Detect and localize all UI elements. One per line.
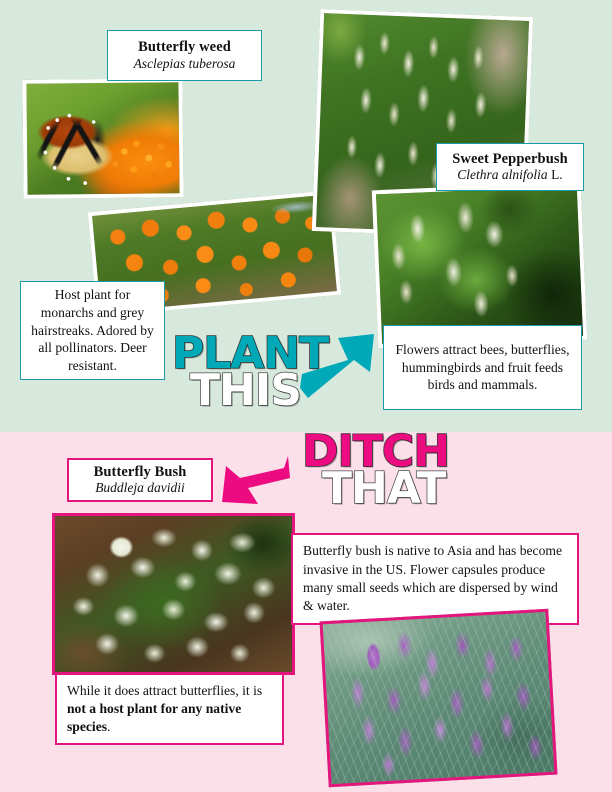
caption-butterfly-bush: Butterfly Bush Buddleja davidii: [67, 458, 213, 502]
infographic-canvas: Butterfly weed Asclepias tuberosa Sweet …: [0, 0, 612, 792]
fact-host-plant-lead: While it does attract butterflies, it is: [67, 683, 262, 698]
photo-sweet-pepperbush-closeup: [372, 182, 587, 349]
fact-host-plant-emphasis: not a host plant for any native species: [67, 701, 241, 734]
butterfly-weed-common-name: Butterfly weed: [138, 39, 231, 56]
fact-sweet-pepperbush: Flowers attract bees, butterflies, hummi…: [383, 325, 582, 410]
fact-host-plant-tail: .: [107, 719, 110, 734]
butterfly-bush-scientific-name: Buddleja davidii: [95, 480, 185, 496]
caption-sweet-pepperbush: Sweet Pepperbush Clethra alnifolia L.: [436, 143, 584, 191]
photo-monarch-on-butterfly-weed: [22, 78, 183, 199]
arrow-down-left-icon: [216, 448, 294, 510]
sweet-pepperbush-common-name: Sweet Pepperbush: [452, 151, 568, 168]
fact-invasive-text: Butterfly bush is native to Asia and has…: [303, 542, 567, 616]
sweet-pepperbush-authority: L.: [548, 167, 563, 182]
butterfly-bush-common-name: Butterfly Bush: [94, 464, 187, 481]
fact-sweet-pepperbush-text: Flowers attract bees, butterflies, hummi…: [391, 341, 574, 394]
fact-butterfly-weed: Host plant for monarchs and grey hairstr…: [20, 281, 165, 380]
fact-host-plant: While it does attract butterflies, it is…: [55, 673, 284, 745]
fact-host-plant-text: While it does attract butterflies, it is…: [67, 682, 272, 737]
pepperbush-closeup-spikes: [376, 186, 583, 344]
white-flower-panicles: [55, 516, 292, 672]
slogan-ditch-that: DITCH THAT: [302, 434, 449, 508]
slogan-that-word: THAT: [322, 471, 449, 508]
photo-white-butterfly-bush: [52, 513, 295, 675]
butterfly-weed-scientific-name: Asclepias tuberosa: [134, 56, 236, 72]
arrow-up-right-icon: [300, 330, 378, 400]
caption-butterfly-weed: Butterfly weed Asclepias tuberosa: [107, 30, 262, 81]
sweet-pepperbush-scientific-name: Clethra alnifolia L.: [457, 167, 562, 183]
fact-butterfly-weed-text: Host plant for monarchs and grey hairstr…: [27, 286, 158, 374]
photo-purple-butterfly-bush: [320, 609, 558, 788]
